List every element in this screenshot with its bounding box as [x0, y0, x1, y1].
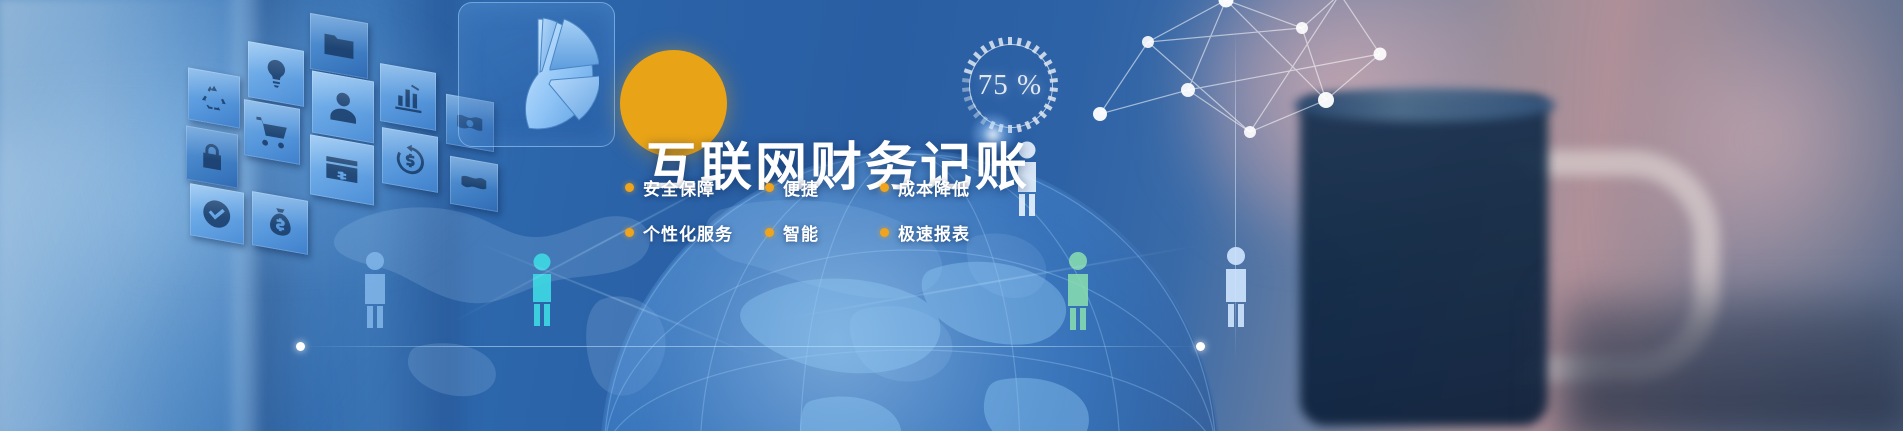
recycle-icon [188, 67, 240, 128]
feature-item-1: 便捷 [765, 175, 880, 200]
feature-row-2: 个性化服务 智能 极速报表 [625, 220, 1025, 245]
feature-item-4: 智能 [765, 220, 880, 245]
horizontal-rule-decoration [300, 346, 1200, 347]
bullet-icon [880, 183, 889, 192]
lock-icon [186, 125, 238, 188]
feature-label: 成本降低 [898, 175, 970, 200]
bullet-icon [625, 228, 634, 237]
bullet-icon [765, 183, 774, 192]
cube-coin [450, 156, 498, 212]
pie-chart-icon [477, 13, 599, 135]
person-silhouette-1 [357, 250, 393, 328]
cube-folder [310, 13, 368, 79]
feature-item-0: 安全保障 [625, 175, 765, 200]
feature-row-1: 安全保障 便捷 成本降低 [625, 175, 1025, 200]
feature-item-5: 极速报表 [880, 220, 970, 245]
icon-cube-cluster [160, 10, 490, 250]
refresh-dollar-icon [382, 127, 438, 193]
feature-item-2: 成本降低 [880, 175, 970, 200]
coin-icon [450, 156, 498, 212]
cube-user [312, 71, 374, 144]
money-bag-icon [252, 191, 308, 255]
feature-label: 安全保障 [643, 175, 715, 200]
cube-cart [244, 99, 300, 165]
background-shadow-right [1560, 300, 1903, 431]
bullet-icon [765, 228, 774, 237]
cube-lightbulb [248, 41, 304, 107]
credit-card-icon [310, 134, 374, 205]
cube-credit-card [310, 134, 374, 205]
feature-label: 极速报表 [898, 220, 970, 245]
check-circle-icon [190, 183, 244, 245]
folder-icon [310, 13, 368, 79]
banner-content: 互联网财务记账 安全保障 便捷 成本降低 个性化服务 [600, 30, 1120, 320]
feature-label: 个性化服务 [643, 220, 733, 245]
endpoint-dot-right [1196, 342, 1205, 351]
cube-refresh-dollar [382, 127, 438, 193]
cube-money-bag [252, 191, 308, 255]
shopping-cart-icon [244, 99, 300, 165]
bullet-icon [880, 228, 889, 237]
person-silhouette-5 [1218, 245, 1254, 327]
cube-recycle [188, 67, 240, 128]
cube-bar-chart [380, 63, 436, 131]
lightbulb-icon [248, 41, 304, 107]
endpoint-dot-left [296, 342, 305, 351]
feature-label: 便捷 [783, 175, 819, 200]
bar-chart-icon [380, 63, 436, 131]
feature-list: 安全保障 便捷 成本降低 个性化服务 智能 [625, 175, 1025, 265]
feature-label: 智能 [783, 220, 819, 245]
marketing-banner: 75 % [0, 0, 1903, 431]
pie-chart-panel [458, 2, 615, 147]
cube-lock [186, 125, 238, 188]
bullet-icon [625, 183, 634, 192]
cube-check [190, 183, 244, 245]
user-icon [312, 71, 374, 144]
feature-item-3: 个性化服务 [625, 220, 765, 245]
